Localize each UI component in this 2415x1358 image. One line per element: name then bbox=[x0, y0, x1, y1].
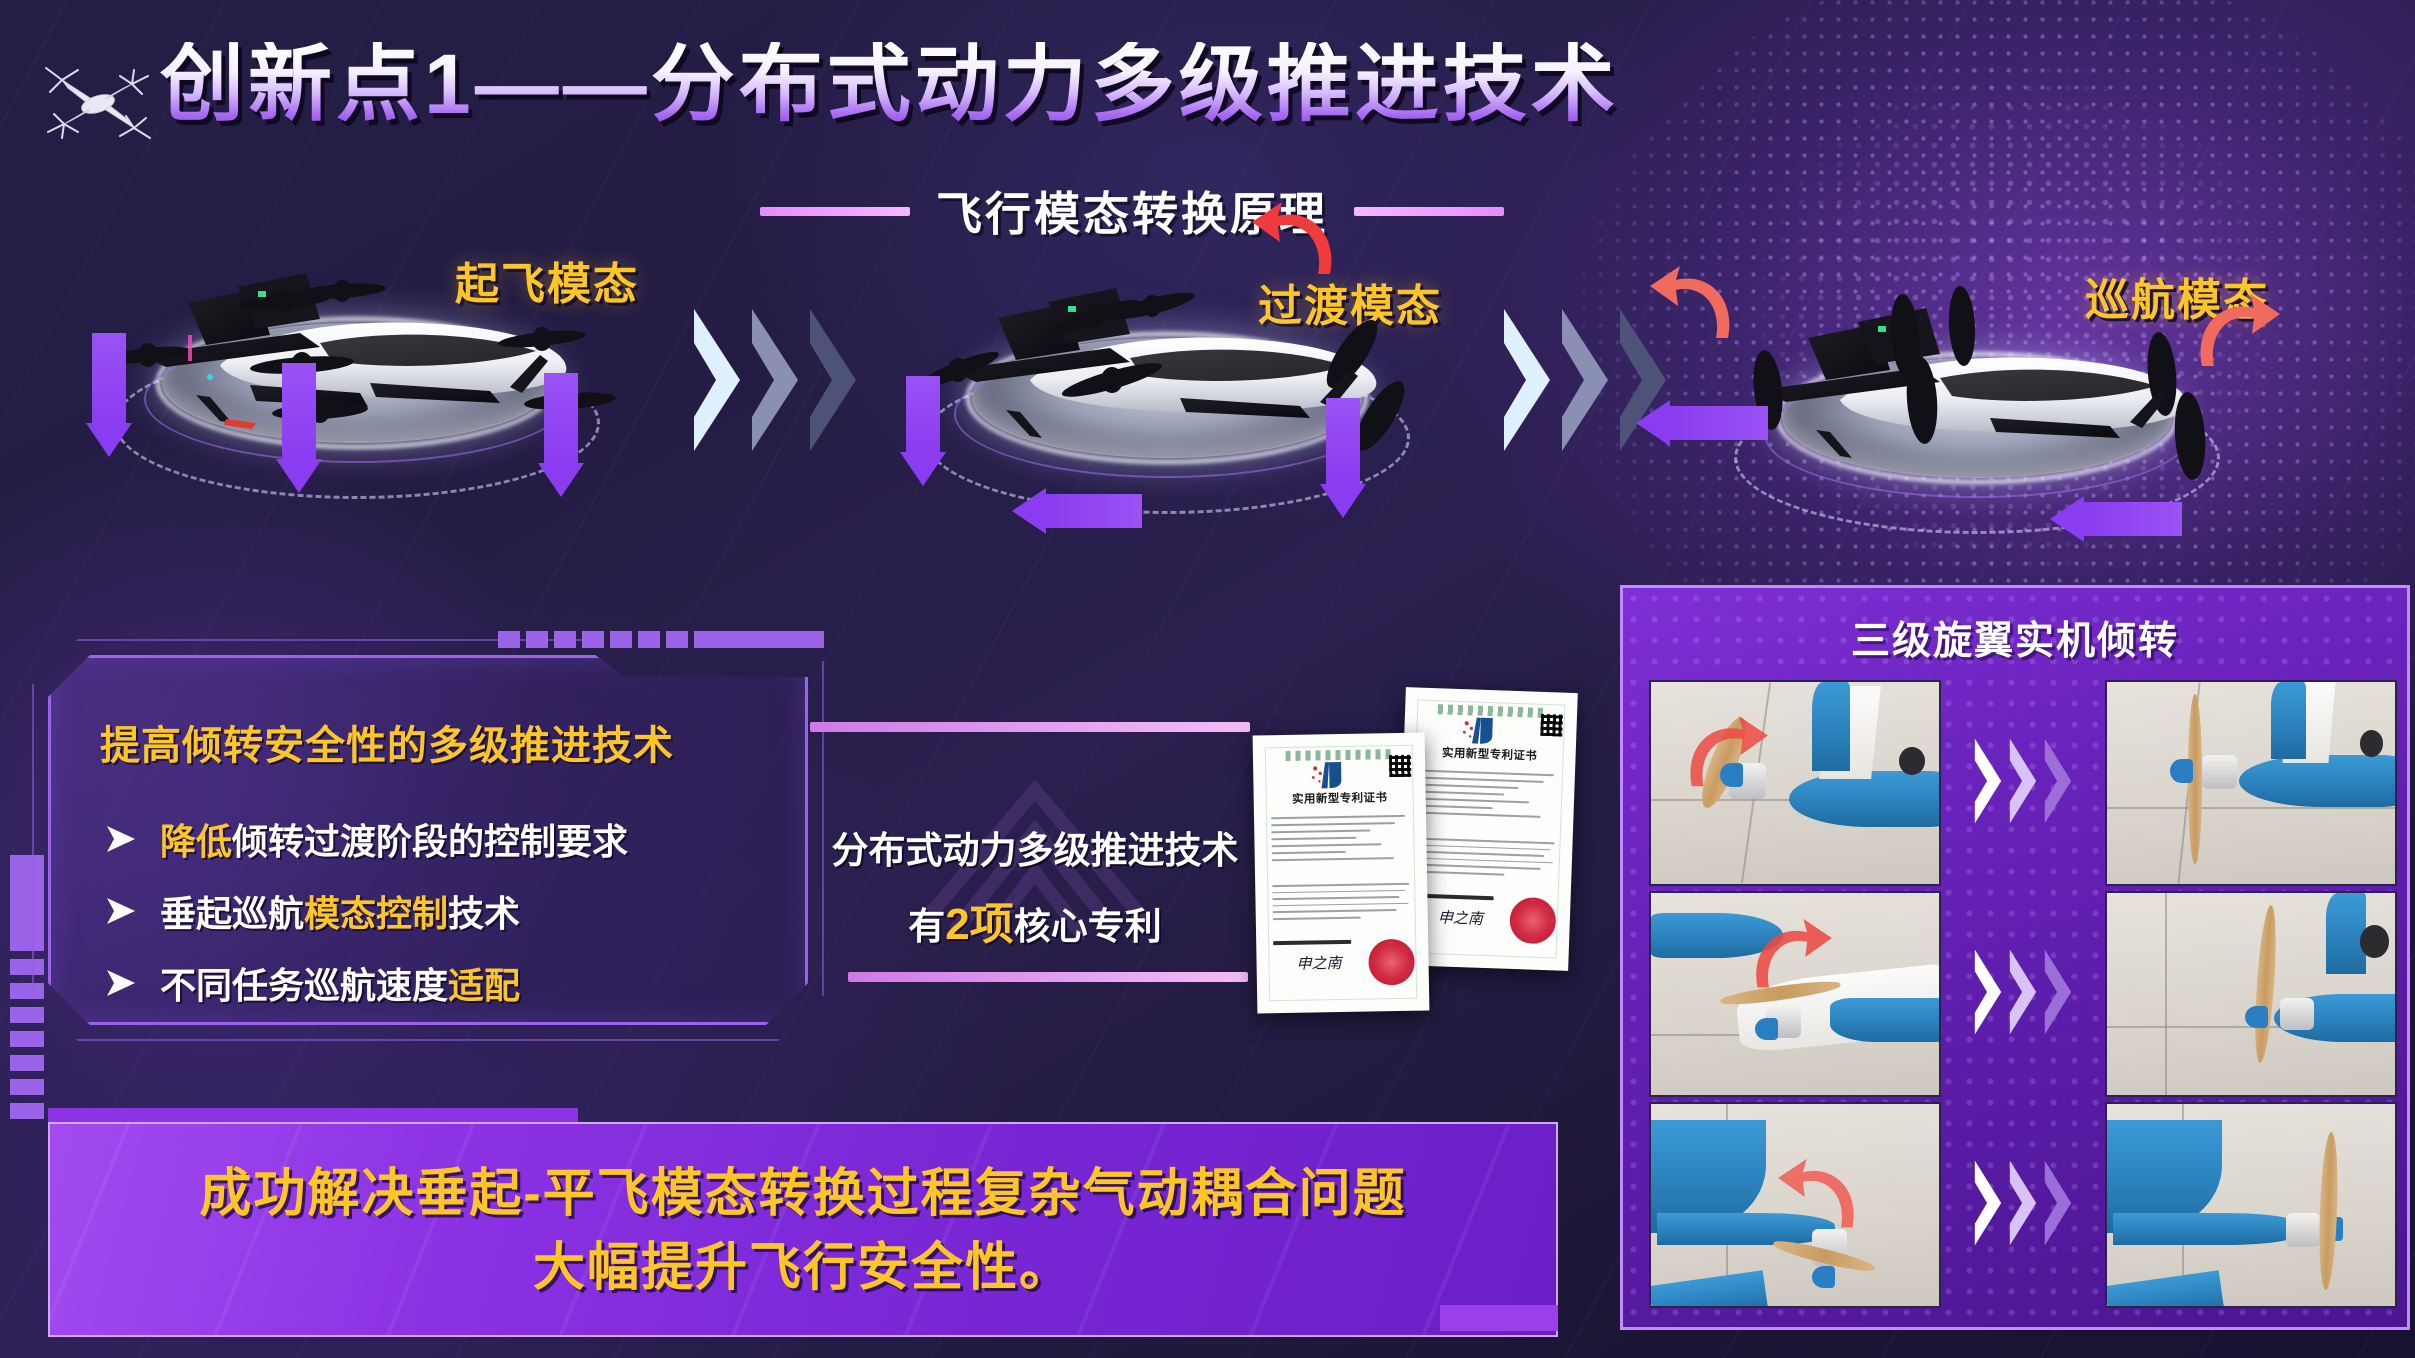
chevron-right-icon bbox=[1558, 305, 1612, 455]
photo-before bbox=[1649, 680, 1941, 886]
page-title: 创新点1——分布式动力多级推进技术 bbox=[160, 42, 1619, 126]
motor bbox=[2286, 1213, 2321, 1247]
chevron-right-icon bbox=[1972, 1157, 2004, 1254]
bullet-arrow-icon bbox=[104, 896, 138, 926]
certificate-paragraph bbox=[1272, 883, 1414, 925]
certificate-paragraph bbox=[1416, 838, 1558, 882]
patent-count: 2项 bbox=[945, 900, 1013, 949]
photo-after bbox=[2105, 891, 2397, 1097]
tech-highlights-panel: 提高倾转安全性的多级推进技术 降低倾转过渡阶段的控制要求 垂起巡航模态控制技术 … bbox=[48, 655, 808, 1025]
spinner bbox=[1755, 1018, 1778, 1040]
rotation-arrow-icon bbox=[1680, 714, 1768, 803]
rotation-arrow-red bbox=[1650, 264, 1740, 355]
list-item: 降低倾转过渡阶段的控制要求 bbox=[104, 803, 764, 875]
photo-grid bbox=[1649, 680, 2387, 1308]
certificate-body-lines bbox=[1271, 815, 1413, 866]
evtol-aircraft-icon bbox=[1690, 250, 2250, 490]
transition-chevrons bbox=[690, 305, 860, 455]
rotation-arrow-red bbox=[1252, 200, 1342, 291]
patent-line-1: 分布式动力多级推进技术 bbox=[800, 820, 1270, 874]
row-arrow-cell bbox=[1946, 680, 2100, 886]
photo-after bbox=[2105, 1102, 2397, 1308]
patent-line-2-c: 核心专利 bbox=[1014, 906, 1162, 947]
thrust-arrow-down bbox=[86, 333, 132, 457]
slide-header: 创新点1——分布式动力多级推进技术 bbox=[0, 22, 2415, 152]
bullet-highlight: 降低 bbox=[160, 821, 232, 862]
thrust-arrow-left bbox=[2050, 496, 2182, 542]
chevron-right-icon bbox=[2007, 946, 2039, 1043]
chevron-right-icon bbox=[2007, 735, 2039, 832]
tilt-demo-panel: 三级旋翼实机倾转 bbox=[1620, 585, 2410, 1330]
transition-chevrons bbox=[1972, 1157, 2074, 1254]
chevron-right-icon bbox=[2042, 1157, 2074, 1254]
panel-dash-decoration bbox=[498, 631, 824, 648]
bullet-highlight: 模态控制 bbox=[304, 893, 448, 934]
fuselage bbox=[1789, 771, 1941, 828]
bullet-lead: 不同任务巡航速度 bbox=[160, 965, 448, 1006]
patent-summary: 分布式动力多级推进技术 有2项核心专利 bbox=[800, 700, 1270, 1000]
scene-transition bbox=[880, 230, 1440, 560]
bullet-lead: 垂起巡航 bbox=[160, 893, 304, 934]
certificate-signature: 申之南 bbox=[1438, 906, 1484, 929]
conclusion-text: 成功解决垂起-平飞模态转换过程复杂气动耦合问题 大幅提升飞行安全性。 bbox=[50, 1158, 1556, 1306]
qr-code-icon bbox=[1540, 714, 1563, 737]
chevron-right-icon bbox=[2042, 946, 2074, 1043]
section-rule-right bbox=[1354, 207, 1504, 216]
spinner bbox=[2170, 759, 2193, 783]
chevron-right-icon bbox=[748, 305, 802, 455]
photo-after bbox=[2105, 680, 2397, 886]
conclusion-banner: 成功解决垂起-平飞模态转换过程复杂气动耦合问题 大幅提升飞行安全性。 bbox=[48, 1122, 1558, 1337]
bullet-arrow-icon bbox=[104, 968, 138, 998]
patent-line-2: 有2项核心专利 bbox=[800, 888, 1270, 952]
section-rule-left bbox=[760, 207, 910, 216]
vertical-tail bbox=[2271, 682, 2306, 759]
divider-bottom bbox=[848, 972, 1248, 982]
transition-chevrons bbox=[1972, 946, 2074, 1043]
bullet-text: 垂起巡航模态控制技术 bbox=[160, 885, 520, 937]
panel-title: 提高倾转安全性的多级推进技术 bbox=[100, 713, 674, 771]
motor bbox=[2280, 998, 2315, 1030]
thrust-arrow-down bbox=[900, 376, 946, 486]
rotation-arrow-icon bbox=[1746, 917, 1832, 1004]
chevron-right-icon bbox=[1972, 946, 2004, 1043]
qr-code-icon bbox=[1389, 755, 1411, 777]
bullet-text: 不同任务巡航速度适配 bbox=[160, 957, 520, 1009]
panel-bullet-list: 降低倾转过渡阶段的控制要求 垂起巡航模态控制技术 不同任务巡航速度适配 bbox=[104, 803, 764, 1019]
thrust-arrow-down bbox=[276, 363, 322, 493]
bullet-arrow-icon bbox=[104, 824, 138, 854]
certificate-title: 实用新型专利证书 bbox=[1254, 789, 1426, 808]
landing-wheel bbox=[1899, 747, 1925, 775]
slide-root: 创新点1——分布式动力多级推进技术 飞行模态转换原理 起飞模态 过渡模态 巡航模… bbox=[0, 0, 2415, 1358]
patent-certificates: 实用新型专利证书 申之南 bbox=[1255, 690, 1595, 990]
bullet-rest: 技术 bbox=[448, 893, 520, 934]
rotation-arrow-icon bbox=[1778, 1157, 1864, 1244]
list-item: 垂起巡航模态控制技术 bbox=[104, 875, 764, 947]
drone-icon bbox=[28, 58, 168, 144]
thrust-arrow-left bbox=[1012, 488, 1142, 534]
bullet-text: 降低倾转过渡阶段的控制要求 bbox=[160, 813, 628, 865]
tilt-demo-title: 三级旋翼实机倾转 bbox=[1623, 610, 2407, 666]
chevron-right-icon bbox=[1500, 305, 1554, 455]
chevron-right-icon bbox=[2042, 735, 2074, 832]
bullet-highlight: 适配 bbox=[448, 965, 520, 1006]
landing-wheel bbox=[2360, 925, 2389, 957]
photo-before bbox=[1649, 1102, 1941, 1308]
thrust-arrow-down bbox=[1320, 398, 1366, 518]
conclusion-line-1: 成功解决垂起-平飞模态转换过程复杂气动耦合问题 bbox=[50, 1158, 1556, 1232]
thrust-arrow-down bbox=[538, 373, 584, 497]
vertical-tail bbox=[2326, 893, 2366, 974]
rotation-arrow-red bbox=[2190, 292, 2280, 383]
chevron-right-icon bbox=[806, 305, 860, 455]
list-item: 不同任务巡航速度适配 bbox=[104, 947, 764, 1019]
certificate-body-lines bbox=[1419, 770, 1562, 824]
transition-chevrons bbox=[1972, 735, 2074, 832]
chevron-right-icon bbox=[2007, 1157, 2039, 1254]
scene-cruise bbox=[1690, 250, 2250, 580]
row-arrow-cell bbox=[1946, 1102, 2100, 1308]
scene-takeoff bbox=[70, 215, 630, 545]
spinner bbox=[2245, 1006, 2268, 1028]
photo-before bbox=[1649, 891, 1941, 1097]
wing-tip bbox=[1830, 998, 1941, 1042]
thrust-arrow-left bbox=[1636, 400, 1768, 446]
row-arrow-cell bbox=[1946, 891, 2100, 1097]
chevron-right-icon bbox=[690, 305, 744, 455]
certificate-document: 实用新型专利证书 申之南 bbox=[1253, 733, 1430, 1014]
boom bbox=[2113, 1213, 2303, 1245]
certificate-signature: 申之南 bbox=[1296, 952, 1341, 974]
banner-notch-bottom-right bbox=[1440, 1305, 1558, 1331]
patent-line-2-a: 有 bbox=[908, 906, 945, 947]
bullet-rest: 倾转过渡阶段的控制要求 bbox=[232, 821, 628, 862]
spinner bbox=[1812, 1266, 1835, 1288]
chevron-right-icon bbox=[1972, 735, 2004, 832]
vertical-tail bbox=[1812, 682, 1849, 771]
conclusion-line-2: 大幅提升飞行安全性。 bbox=[50, 1232, 1556, 1306]
motor bbox=[2202, 755, 2237, 789]
